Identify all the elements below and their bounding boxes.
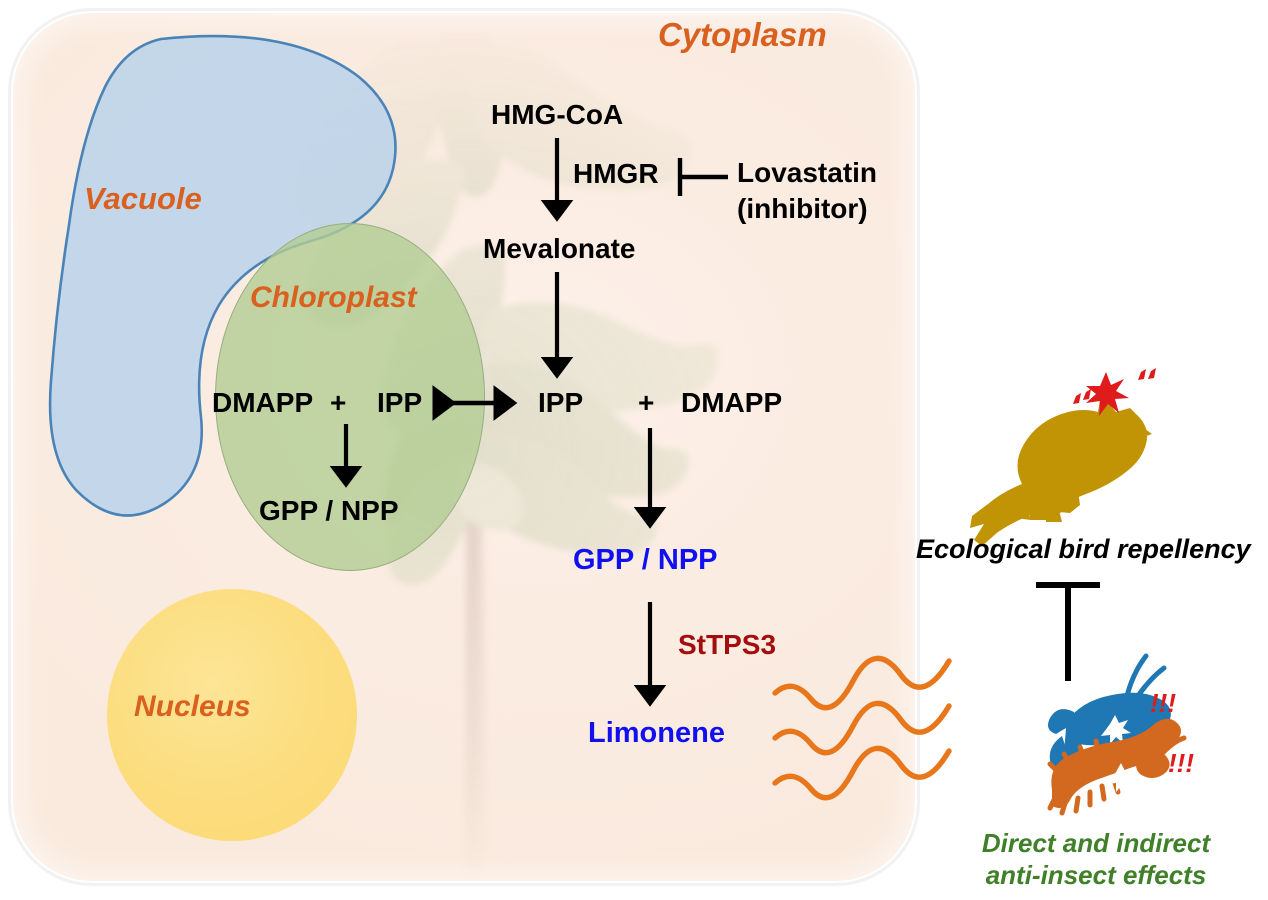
grasshopper-icon [1048, 656, 1171, 768]
insect-to-bird-inhibition-icon [1036, 583, 1100, 681]
metabolite-gpp-npp-cytoplasm: GPP / NPP [573, 546, 718, 575]
metabolite-gpp-npp-chloroplast: GPP / NPP [259, 497, 399, 525]
label-chloroplast: Chloroplast [250, 283, 417, 313]
label-vacuole: Vacuole [84, 183, 202, 214]
caption-anti-insect-line1: Direct and indirect [946, 828, 1246, 860]
metabolite-dmapp-chloroplast: DMAPP [212, 389, 313, 417]
startle-sparkle-icon [1073, 368, 1156, 416]
enzyme-hmgr: HMGR [573, 160, 659, 188]
enzyme-sttps3: StTPS3 [678, 631, 776, 659]
figure-canvas: !!! !!! Cytoplasm Vacuole Chloroplast Nu… [0, 0, 1268, 900]
metabolite-hmg-coa: HMG-CoA [491, 101, 623, 129]
metabolite-dmapp-cytoplasm: DMAPP [681, 389, 782, 417]
metabolite-limonene: Limonene [588, 719, 725, 748]
metabolite-ipp-chloroplast: IPP [377, 389, 422, 417]
caption-bird-repellency: Ecological bird repellency [916, 534, 1251, 565]
inhibitor-lovastatin: Lovastatin [737, 159, 877, 187]
plant-cell-boundary [8, 8, 920, 886]
label-cytoplasm: Cytoplasm [658, 18, 827, 51]
label-nucleus: Nucleus [134, 692, 251, 722]
caterpillar-icon [1050, 719, 1184, 813]
metabolite-mevalonate: Mevalonate [483, 235, 636, 263]
plus-sign-cytoplasm: + [638, 389, 654, 417]
caterpillar-alert-text: !!! [1168, 748, 1194, 778]
plus-sign-chloroplast: + [330, 389, 346, 417]
metabolite-ipp-cytoplasm: IPP [538, 389, 583, 417]
inhibitor-lovastatin-note: (inhibitor) [737, 195, 868, 223]
bird-icon [970, 400, 1152, 546]
caption-anti-insect-line2: anti-insect effects [946, 860, 1246, 892]
grasshopper-alert-text: !!! [1150, 688, 1176, 718]
